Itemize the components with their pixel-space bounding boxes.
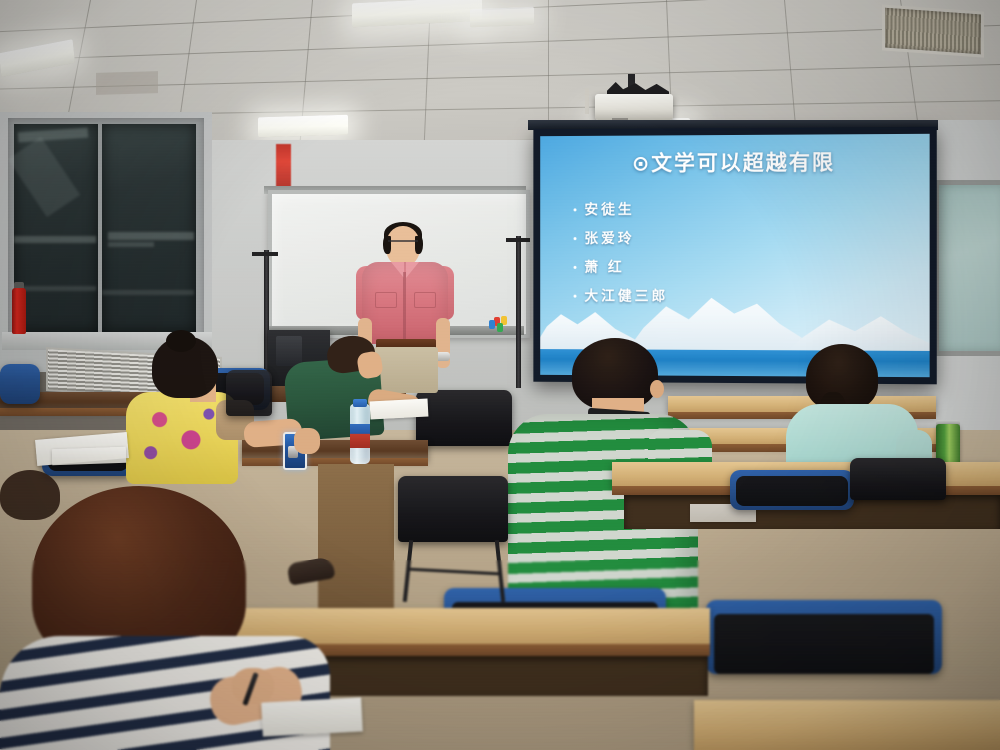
presenter-pants bbox=[374, 347, 438, 393]
framed-glass-panel bbox=[934, 180, 1000, 356]
slide-bullet-text: 张爱玲 bbox=[584, 228, 634, 248]
fire-extinguisher bbox=[12, 288, 26, 334]
slide-bullet-text: 安徒生 bbox=[584, 199, 634, 219]
slide-bullet-text: 大江健三郎 bbox=[584, 286, 668, 306]
presenter-shirt-placket bbox=[403, 272, 406, 342]
slide-bullet-list: 安徒生 张爱玲 萧 红 大江健三郎 bbox=[574, 199, 669, 315]
window-pane bbox=[14, 124, 98, 332]
classroom-photo: ⊙文学可以超越有限 安徒生 张爱玲 萧 红 大江健三郎 bbox=[0, 0, 1000, 750]
screen-stand-pole bbox=[516, 236, 521, 388]
student-ear bbox=[650, 380, 664, 398]
slide-bullet-item: 萧 红 bbox=[574, 257, 669, 277]
desk-side-panel bbox=[318, 464, 394, 610]
papers bbox=[52, 447, 127, 466]
ceiling-light-panel bbox=[0, 39, 75, 77]
chair-blue-upholstered[interactable] bbox=[730, 470, 854, 510]
ceiling-tile-stain bbox=[96, 71, 158, 95]
screen-stand-bracket bbox=[506, 238, 530, 242]
bullet-dot-icon bbox=[574, 208, 577, 211]
slide-title: ⊙文学可以超越有限 bbox=[540, 146, 929, 178]
chair-black-vinyl[interactable] bbox=[398, 476, 508, 542]
ceiling-light-panel bbox=[470, 7, 534, 28]
slide-bullet-text: 萧 红 bbox=[584, 257, 624, 277]
bullet-dot-icon bbox=[574, 265, 577, 268]
notebook[interactable] bbox=[261, 697, 363, 736]
chair-black-vinyl[interactable] bbox=[226, 370, 272, 416]
bullet-dot-icon bbox=[574, 237, 577, 240]
student-hair-bun bbox=[166, 330, 196, 352]
marker-green-icon[interactable] bbox=[497, 323, 503, 332]
student-hand bbox=[294, 428, 320, 454]
window-pane bbox=[102, 124, 196, 332]
presenter-shirt-pocket bbox=[375, 292, 397, 308]
water-bottle-cap bbox=[353, 399, 367, 407]
bullet-dot-icon bbox=[574, 294, 577, 297]
marker-blue-icon[interactable] bbox=[489, 320, 495, 329]
desk-row-front-right bbox=[694, 700, 1000, 750]
air-vent-icon bbox=[882, 4, 984, 57]
student-partial-head bbox=[0, 470, 60, 520]
ceiling-projector bbox=[595, 94, 673, 120]
chair-blue-upholstered[interactable] bbox=[0, 364, 40, 404]
glasses-icon bbox=[388, 240, 418, 249]
ceiling-light-panel bbox=[258, 115, 348, 138]
chair-black-vinyl[interactable] bbox=[416, 390, 512, 446]
ceiling-light-panel bbox=[352, 0, 482, 27]
presenter-shirt-pocket bbox=[414, 292, 436, 308]
screen-stand-bracket bbox=[252, 252, 278, 256]
monitor-icon bbox=[276, 336, 302, 366]
slide-bullet-item: 安徒生 bbox=[574, 199, 669, 219]
water-bottle-label bbox=[350, 424, 370, 448]
chair-black-vinyl[interactable] bbox=[850, 458, 946, 500]
projector-pole bbox=[585, 88, 589, 114]
papers bbox=[370, 398, 429, 419]
chair-blue-upholstered[interactable] bbox=[706, 600, 942, 674]
slide-bullet-item: 张爱玲 bbox=[574, 228, 669, 248]
slide-bullet-item: 大江健三郎 bbox=[574, 286, 669, 306]
